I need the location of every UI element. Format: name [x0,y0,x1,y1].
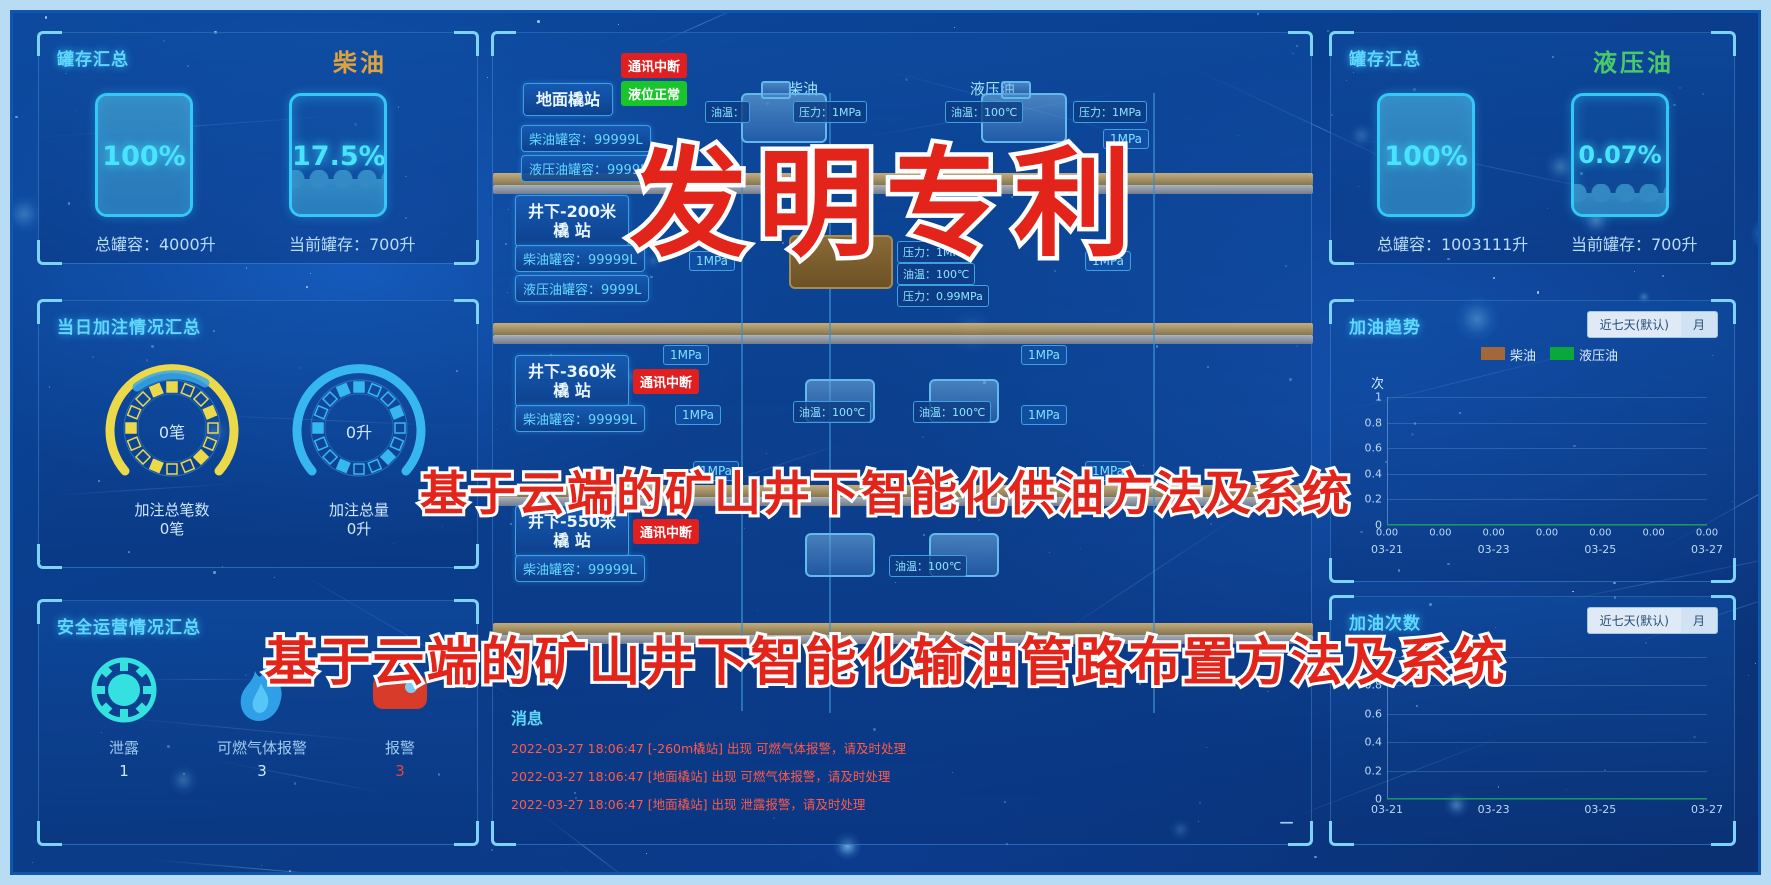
gauge-refuel-volume: 0升 [284,353,434,503]
trend-legend: 柴油 液压油 [1481,345,1618,364]
equipment-cap [1001,81,1031,99]
tank-caption: 当前罐存：700升 [1571,231,1698,255]
message-log-title: 消息 [511,705,1291,729]
gauge-value: 0笔 [97,419,247,443]
tank-fill [292,179,384,214]
gear-icon [87,653,161,727]
tank-fill [1574,193,1666,214]
watermark-title: 发明专利 [629,108,1141,279]
range-week-button[interactable]: 近七天(默认) [1588,312,1681,337]
panel-right-stock: 罐存汇总 液压油 100% 总罐容：1003111升 0.07% 当前罐存：70… [1330,32,1735,264]
gauge-value: 0升 [284,419,434,443]
gauge-refuel-count: 0笔 [97,353,247,503]
station-name-surface[interactable]: 地面橇站 [523,83,613,116]
panel-title: 安全运营情况汇总 [57,613,201,638]
legend-label-hydraulic: 液压油 [1579,349,1618,364]
legend-swatch-hydraulic [1550,347,1574,360]
watermark-line-2: 基于云端的矿山井下智能化输油管路布置方法及系统 [264,620,1506,695]
tank-percent: 100% [1380,141,1472,172]
status-badge-comm: 通讯中断 [633,369,699,394]
trend-plot-area: 00.20.40.60.810.000.000.000.000.000.000.… [1387,397,1707,525]
tank-graphic: 100% [1377,93,1475,217]
legend-label-diesel: 柴油 [1510,349,1536,364]
current-stock-tank: 0.07% 当前罐存：700升 [1571,93,1698,255]
panel-title: 当日加注情况汇总 [57,313,201,338]
panel-title: 加油趋势 [1349,313,1421,338]
tank-percent: 0.07% [1574,141,1666,169]
message-line: 2022-03-27 18:06:47 [-260m橇站] 出现 可燃气体报警，… [511,738,1291,757]
pressure-tag: 1MPa [675,405,721,425]
pressure-tag: 1MPa [1021,405,1067,425]
panel-refuel-trend: 加油趋势 近七天(默认) 月 柴油 液压油 次 00.20.40.60.810.… [1330,300,1735,582]
tank-graphic: 0.07% [1571,93,1669,217]
safety-item-leak[interactable]: 泄露 1 [49,653,199,780]
meter-oil-temp: 油温：100℃ [793,401,871,423]
safety-value: 3 [187,762,337,780]
equipment-unit [805,533,875,577]
message-line: 2022-03-27 18:06:47 [地面橇站] 出现 泄露报警，请及时处理 [511,794,1291,813]
equipment-cap [761,81,791,99]
trend-y-unit: 次 [1371,373,1384,392]
safety-label: 泄露 [49,737,199,758]
total-capacity-tank: 100% 总罐容：4000升 [95,93,216,255]
total-capacity-tank: 100% 总罐容：1003111升 [1377,93,1528,255]
tank-percent: 17.5% [292,141,384,172]
status-badge-comm: 通讯中断 [621,53,687,78]
range-week-button[interactable]: 近七天(默认) [1588,608,1681,633]
safety-label: 报警 [325,737,475,758]
current-stock-tank: 17.5% 当前罐存：700升 [289,93,416,255]
zoom-out-icon[interactable]: − [1278,810,1295,834]
tank-caption: 总罐容：1003111升 [1377,231,1528,255]
range-month-button[interactable]: 月 [1681,608,1717,633]
watermark-line-1: 基于云端的矿山井下智能化供油方法及系统 [420,455,1351,524]
count-range-toggle[interactable]: 近七天(默认) 月 [1587,607,1718,634]
strata-pipe [493,335,1313,344]
trend-range-toggle[interactable]: 近七天(默认) 月 [1587,311,1718,338]
range-month-button[interactable]: 月 [1681,312,1717,337]
message-log: 消息 2022-03-27 18:06:47 [-260m橇站] 出现 可燃气体… [511,705,1291,813]
tank-graphic: 17.5% [289,93,387,217]
status-badge-level: 液位正常 [621,81,687,106]
legend-swatch-diesel [1481,347,1505,360]
tank-capacity-diesel: 柴油罐容：99999L [515,555,645,582]
tank-percent: 100% [98,141,190,172]
gauge-caption: 加注总笔数 0笔 [72,501,272,539]
panel-left-stock: 罐存汇总 柴油 100% 总罐容：4000升 17.5% 当前罐存：700升 [38,32,478,264]
oil-type-label: 液压油 [1593,43,1674,78]
safety-value: 3 [325,762,475,780]
meter-oil-temp: 油温：100℃ [889,555,967,577]
station-name-200[interactable]: 井下-200米橇 站 [515,195,629,247]
tank-capacity-diesel: 柴油罐容：99999L [515,245,645,272]
tank-graphic: 100% [95,93,193,217]
dashboard-root: 罐存汇总 柴油 100% 总罐容：4000升 17.5% 当前罐存：700升 当… [0,0,1771,885]
pressure-tag: 1MPa [1021,345,1067,365]
panel-today-refuel: 当日加注情况汇总 0笔 加注总笔数 0笔 0升 [38,300,478,568]
panel-title: 罐存汇总 [1349,45,1421,70]
pressure-tag: 1MPa [663,345,709,365]
meter-oil-temp: 油温：100℃ [913,401,991,423]
tank-capacity-hydraulic: 液压油罐容：9999L [515,275,649,302]
oil-type-label: 柴油 [333,43,387,78]
safety-value: 1 [49,762,199,780]
message-line: 2022-03-27 18:06:47 [地面橇站] 出现 可燃气体报警，请及时… [511,766,1291,785]
safety-label: 可燃气体报警 [187,737,337,758]
meter-pressure-2: 压力：0.99MPa [897,285,989,307]
tank-capacity-diesel: 柴油罐容：99999L [515,405,645,432]
tank-caption: 当前罐存：700升 [289,231,416,255]
station-name-360[interactable]: 井下-360米橇 站 [515,355,629,407]
panel-title: 罐存汇总 [57,45,129,70]
tank-caption: 总罐容：4000升 [95,231,216,255]
